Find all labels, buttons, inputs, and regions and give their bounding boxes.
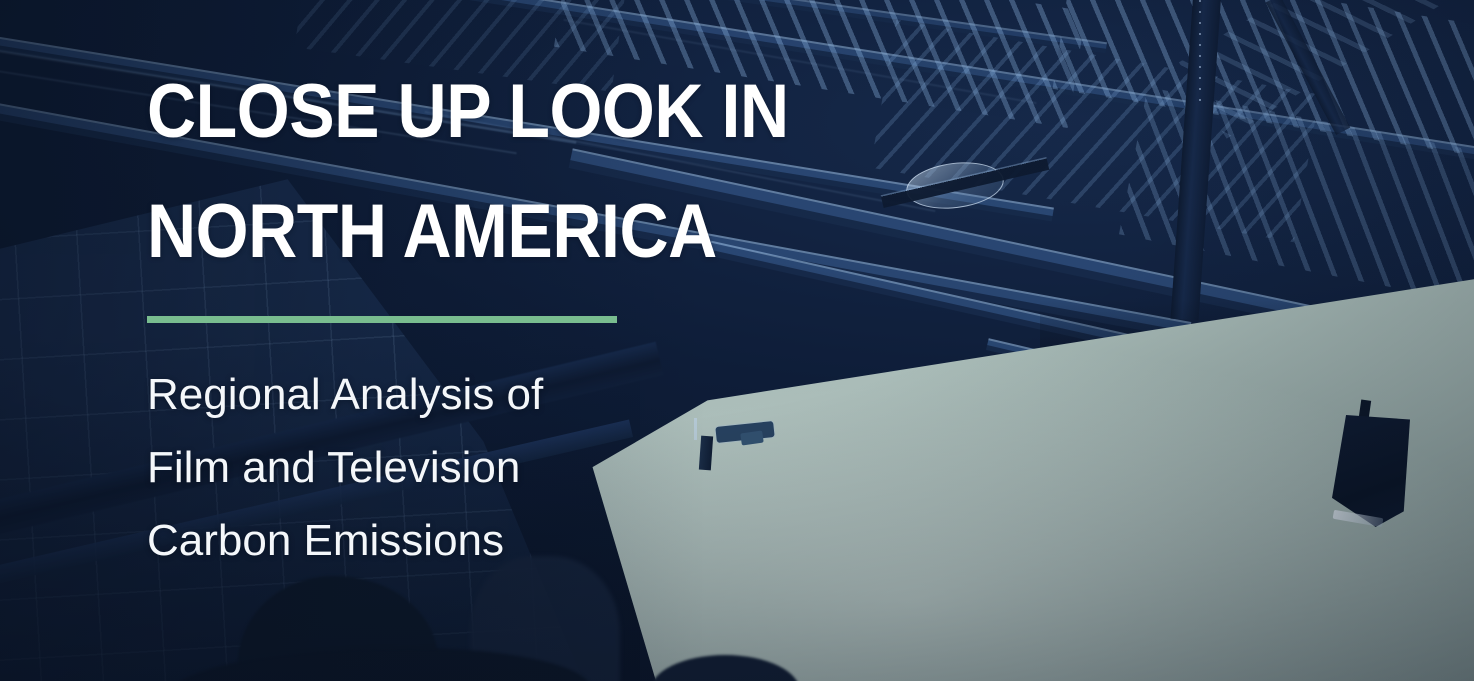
title-content-block: CLOSE UP LOOK IN NORTH AMERICA Regional … [147,0,1047,681]
page-subtitle: Regional Analysis of Film and Television… [147,358,787,577]
page-title: CLOSE UP LOOK IN NORTH AMERICA [147,52,827,292]
column-bolt-holes [1199,0,1201,110]
title-slide: CLOSE UP LOOK IN NORTH AMERICA Regional … [0,0,1474,681]
accent-rule [147,316,617,323]
